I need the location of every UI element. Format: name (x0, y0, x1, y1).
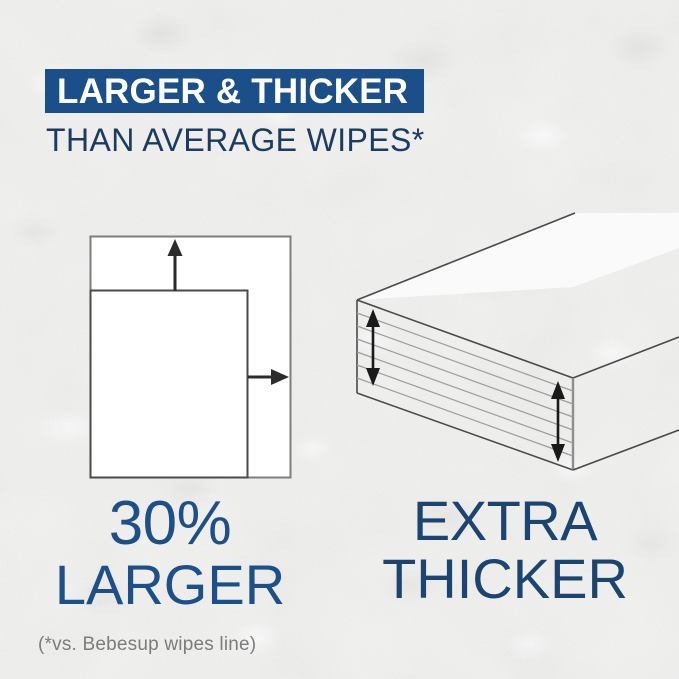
stat-larger-secondary: LARGER (10, 555, 330, 615)
size-comparison-shapes (91, 237, 291, 478)
stack-top-right-edge (573, 337, 679, 378)
stat-block-thicker: EXTRA THICKER (345, 492, 665, 610)
thickness-stack-shapes (357, 213, 679, 470)
stack-top-face (357, 213, 679, 300)
infographic-canvas: LARGER & THICKER THAN AVERAGE WIPES* (0, 0, 679, 679)
smaller-wipe-rect (91, 291, 248, 478)
thickness-arrow-right (551, 381, 565, 462)
stack-layer-lines (357, 313, 573, 456)
stat-larger-primary: 30% (10, 492, 330, 555)
stat-thicker-primary: EXTRA (345, 492, 665, 549)
stack-right-bottom-edge (573, 430, 679, 470)
stack-top-front-edge (357, 300, 573, 378)
stat-block-larger: 30% LARGER (10, 492, 330, 616)
footnote-disclaimer: (*vs. Bebesup wipes line) (38, 634, 256, 656)
stat-thicker-secondary: THICKER (345, 549, 665, 609)
